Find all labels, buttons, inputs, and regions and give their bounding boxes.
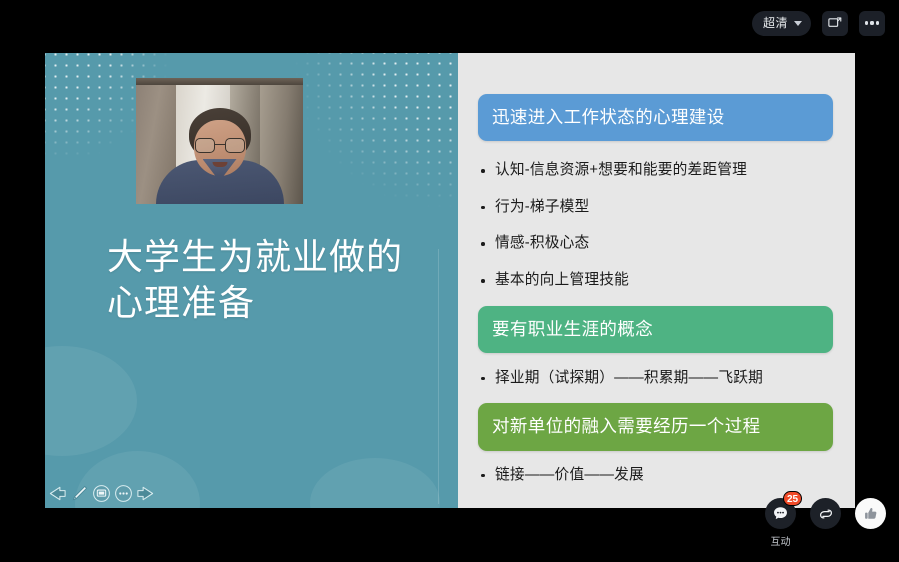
chevron-down-icon (794, 21, 802, 26)
prev-slide-icon (48, 484, 67, 503)
list-item: 链接——价值——发展 (478, 467, 833, 485)
section-header-1: 迅速进入工作状态的心理建设 (478, 94, 833, 141)
slide-stage: 大学生为就业做的 心理准备 (45, 53, 855, 508)
chat-unread-badge: 25 (783, 491, 802, 506)
top-toolbar: 超清 (0, 0, 899, 46)
bullet-list-1: 认知-信息资源+想要和能要的差距管理 行为-梯子模型 情感-积极心态 基本的向上… (478, 162, 833, 290)
next-slide-icon (136, 484, 155, 503)
link-share-icon (817, 505, 835, 523)
slide-title: 大学生为就业做的 心理准备 (107, 234, 437, 326)
link-button[interactable] (810, 498, 841, 529)
decorative-blob (310, 458, 440, 508)
chat-bubble-icon (772, 505, 789, 522)
chat-action[interactable]: 25 互动 (765, 498, 796, 548)
more-options-icon (865, 21, 880, 24)
thumbs-up-icon (863, 506, 879, 522)
action-cluster: 25 互动 (765, 498, 886, 548)
like-action[interactable] (855, 498, 886, 529)
quality-selector[interactable]: 超清 (752, 11, 811, 36)
prev-slide-button[interactable] (48, 484, 67, 503)
chat-label: 互动 (771, 533, 791, 548)
link-action[interactable] (810, 498, 841, 529)
next-slide-button[interactable] (136, 484, 155, 503)
list-item: 情感-积极心态 (478, 235, 833, 253)
list-item: 基本的向上管理技能 (478, 272, 833, 290)
like-button[interactable] (855, 498, 886, 529)
screen-view-button[interactable] (92, 484, 111, 503)
panel-divider (438, 249, 439, 504)
video-presentation-player: 超清 (0, 0, 899, 562)
screen-cast-icon (828, 16, 842, 30)
more-tools-button[interactable] (114, 484, 133, 503)
decorative-blob (45, 346, 137, 456)
list-item: 择业期（试探期）——积累期——飞跃期 (478, 370, 833, 388)
screen-icon (92, 484, 111, 503)
more-tools-icon (114, 484, 133, 503)
screen-cast-button[interactable] (822, 11, 848, 36)
quality-label: 超清 (763, 17, 788, 29)
slide-navigation-controls (48, 484, 155, 503)
section-header-3: 对新单位的融入需要经历一个过程 (478, 403, 833, 450)
slide-left-panel: 大学生为就业做的 心理准备 (45, 53, 458, 508)
pen-tool-icon (70, 484, 89, 503)
bullet-list-2: 择业期（试探期）——积累期——飞跃期 (478, 370, 833, 388)
presenter-video-tile[interactable] (136, 78, 303, 204)
more-options-button[interactable] (859, 11, 885, 36)
list-item: 认知-信息资源+想要和能要的差距管理 (478, 162, 833, 180)
section-header-2: 要有职业生涯的概念 (478, 306, 833, 353)
presenter-glasses (195, 138, 245, 153)
pen-tool-button[interactable] (70, 484, 89, 503)
slide-right-panel: 迅速进入工作状态的心理建设 认知-信息资源+想要和能要的差距管理 行为-梯子模型… (458, 53, 855, 508)
list-item: 行为-梯子模型 (478, 199, 833, 217)
bullet-list-3: 链接——价值——发展 (478, 467, 833, 485)
